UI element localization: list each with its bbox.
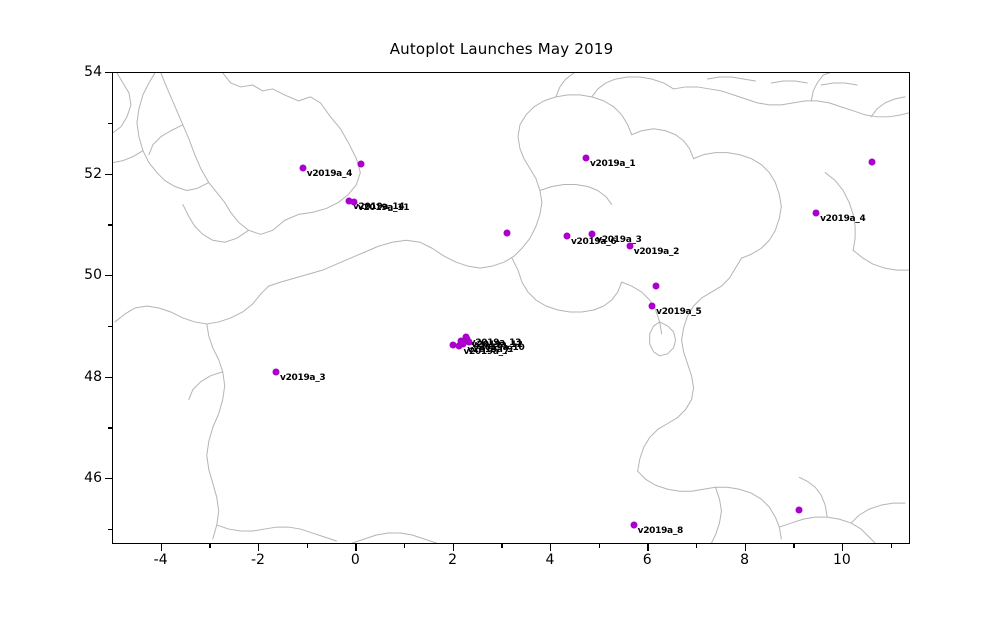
scatter-point-label: v2019a_11 (358, 203, 409, 213)
scatter-point-label: v2019a_1 (590, 159, 635, 169)
y-tick-minor (108, 224, 112, 225)
x-tick-label: 0 (351, 552, 360, 568)
scatter-point (273, 369, 280, 376)
x-tick-label: -2 (251, 552, 265, 568)
x-tick-minor (891, 544, 892, 548)
y-tick-label: 54 (62, 64, 102, 80)
x-tick-minor (793, 544, 794, 548)
x-tick-label: -4 (154, 552, 168, 568)
x-tick-major (647, 544, 648, 551)
plot-area: v2019a_4v2019a_14v2019a_11v2019a_3v2019a… (112, 72, 910, 544)
y-tick-minor (108, 427, 112, 428)
scatter-point (649, 303, 656, 310)
x-tick-minor (599, 544, 600, 548)
y-tick-major (105, 174, 112, 175)
y-tick-label: 52 (62, 166, 102, 182)
y-tick-minor (108, 123, 112, 124)
scatter-point (358, 161, 365, 168)
x-tick-label: 10 (833, 552, 851, 568)
page-title: Autoplot Launches May 2019 (0, 40, 1003, 58)
y-tick-label: 50 (62, 267, 102, 283)
x-tick-label: 2 (448, 552, 457, 568)
y-tick-minor (108, 529, 112, 530)
x-tick-label: 8 (740, 552, 749, 568)
x-tick-label: 6 (643, 552, 652, 568)
x-tick-major (258, 544, 259, 551)
scatter-point (796, 507, 803, 514)
scatter-point-label: v2019a_4 (820, 214, 865, 224)
y-tick-label: 46 (62, 470, 102, 486)
scatter-data-layer: v2019a_4v2019a_14v2019a_11v2019a_3v2019a… (113, 73, 909, 543)
x-tick-major (453, 544, 454, 551)
x-tick-major (745, 544, 746, 551)
scatter-point-label: v2019a_7 (463, 347, 508, 357)
y-tick-minor (108, 326, 112, 327)
x-tick-minor (696, 544, 697, 548)
scatter-point-label: v2019a_2 (634, 247, 679, 257)
scatter-point (589, 231, 596, 238)
y-tick-major (105, 275, 112, 276)
x-tick-minor (209, 544, 210, 548)
scatter-point (299, 165, 306, 172)
scatter-point (456, 343, 463, 350)
figure-canvas: Autoplot Launches May 2019 (0, 0, 1003, 633)
scatter-point (813, 209, 820, 216)
scatter-point (869, 158, 876, 165)
scatter-point (504, 229, 511, 236)
scatter-point-label: v2019a_5 (656, 307, 701, 317)
y-tick-major (105, 72, 112, 73)
scatter-point-label: v2019a_3 (280, 373, 325, 383)
x-tick-major (842, 544, 843, 551)
x-tick-major (161, 544, 162, 551)
x-tick-major (355, 544, 356, 551)
x-tick-major (550, 544, 551, 551)
scatter-point (582, 155, 589, 162)
scatter-point (630, 521, 637, 528)
x-tick-minor (404, 544, 405, 548)
scatter-point (350, 198, 357, 205)
x-tick-minor (307, 544, 308, 548)
x-tick-minor (501, 544, 502, 548)
scatter-point-label: v2019a_3 (596, 235, 641, 245)
scatter-point (652, 283, 659, 290)
scatter-point (563, 233, 570, 240)
x-tick-label: 4 (545, 552, 554, 568)
y-tick-label: 48 (62, 369, 102, 385)
y-tick-major (105, 478, 112, 479)
scatter-point (626, 242, 633, 249)
y-tick-major (105, 377, 112, 378)
scatter-point-label: v2019a_4 (307, 169, 352, 179)
scatter-point-label: v2019a_8 (638, 526, 683, 536)
